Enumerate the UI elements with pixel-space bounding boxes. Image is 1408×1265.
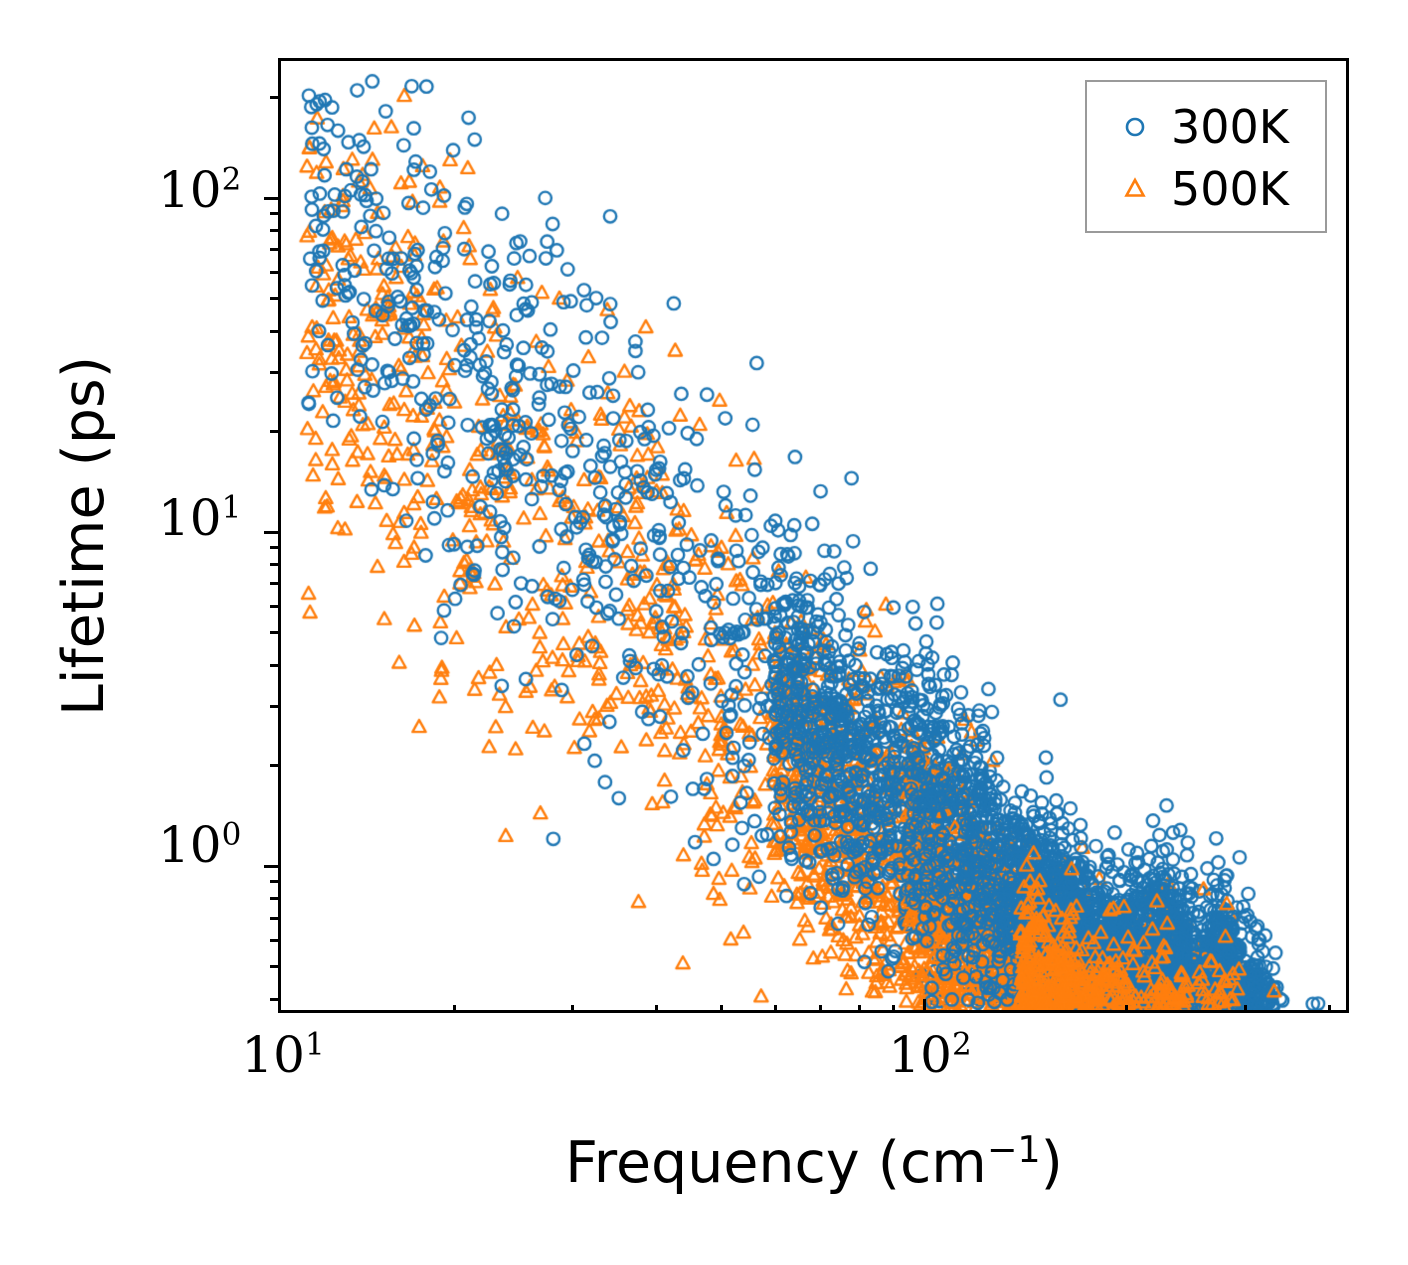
y-tick-label-10e0: 100	[158, 820, 241, 870]
tick-major	[264, 197, 278, 200]
y-axis-title: Lifetime (ps)	[51, 356, 117, 716]
tick-minor	[270, 96, 278, 99]
tick-minor	[270, 371, 278, 374]
tick-minor	[270, 430, 278, 433]
tick-minor	[270, 605, 278, 608]
tick-minor	[270, 297, 278, 300]
legend-entry-500k[interactable]: 500K	[1087, 158, 1325, 220]
x-axis-title-tail: )	[1041, 1130, 1063, 1196]
legend-marker-circle-icon	[1113, 112, 1157, 142]
y-tick-label-10e1: 101	[158, 493, 241, 543]
legend-marker-triangle-icon	[1113, 174, 1157, 204]
tick-minor	[270, 271, 278, 274]
tick-minor	[270, 631, 278, 634]
tick-minor	[270, 330, 278, 333]
tick-minor	[270, 248, 278, 251]
tick-minor	[270, 897, 278, 900]
x-axis-title: Frequency (cm−1)	[565, 1130, 1063, 1196]
tick-minor	[270, 212, 278, 215]
legend-box[interactable]: 300K 500K	[1085, 80, 1327, 233]
tick-minor	[270, 880, 278, 883]
y-tick-label-10e2: 102	[158, 165, 241, 215]
x-axis-title-exponent: −1	[987, 1128, 1041, 1171]
tick-minor	[270, 917, 278, 920]
x-tick-label-10e2: 102	[888, 1030, 971, 1080]
tick-minor	[270, 965, 278, 968]
tick-minor	[270, 546, 278, 549]
tick-major	[264, 531, 278, 534]
tick-major	[264, 865, 278, 868]
tick-minor	[270, 764, 278, 767]
tick-minor	[270, 582, 278, 585]
tick-minor	[270, 705, 278, 708]
figure-canvas: 101 102 102 101 100 Frequency (cm−1) Lif…	[0, 0, 1408, 1265]
tick-minor	[270, 939, 278, 942]
x-axis-title-main: Frequency (cm	[565, 1130, 987, 1196]
tick-minor	[270, 229, 278, 232]
legend-label-300k: 300K	[1171, 100, 1289, 154]
legend-entry-300k[interactable]: 300K	[1087, 96, 1325, 158]
x-tick-label-10e1: 101	[241, 1030, 324, 1080]
tick-minor	[270, 998, 278, 1001]
tick-minor	[270, 664, 278, 667]
legend-label-500k: 500K	[1171, 162, 1289, 216]
tick-minor	[270, 563, 278, 566]
